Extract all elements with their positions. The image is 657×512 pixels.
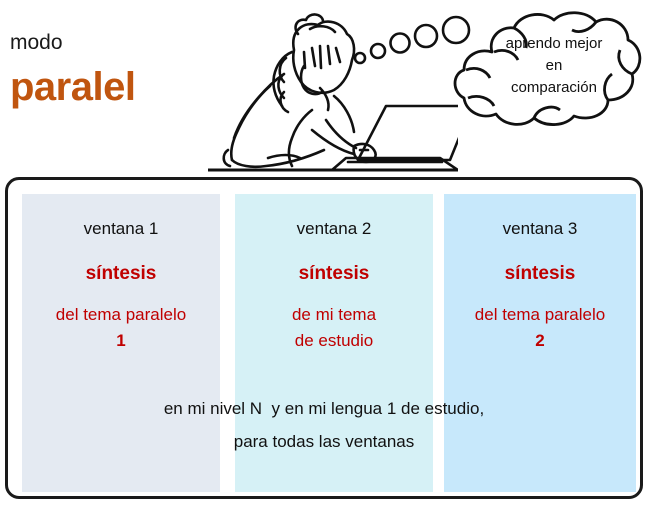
window-card-2-detail-line-1: de mi tema <box>235 302 433 328</box>
window-card-3[interactable]: ventana 3 síntesis del tema paralelo 2 <box>444 194 636 492</box>
window-card-3-detail-line-2: 2 <box>444 328 636 354</box>
title-mode-label: modo <box>10 30 230 56</box>
window-card-1-title: ventana 1 <box>22 218 220 240</box>
window-card-2-detail: de mi tema de estudio <box>235 302 433 354</box>
window-card-1-detail-line-2: 1 <box>22 328 220 354</box>
window-card-1[interactable]: ventana 1 síntesis del tema paralelo 1 <box>22 194 220 492</box>
cloud-text-line-2: en <box>470 55 638 77</box>
window-card-2-title: ventana 2 <box>235 218 433 240</box>
window-card-3-content: ventana 3 síntesis del tema paralelo 2 <box>444 194 636 354</box>
window-card-3-title: ventana 3 <box>444 218 636 240</box>
window-card-1-detail-line-1: del tema paralelo <box>22 302 220 328</box>
cloud-text-line-3: comparación <box>470 77 638 99</box>
window-card-1-sintesis: síntesis <box>22 262 220 286</box>
cloud-text-line-1: aprendo mejor <box>470 33 638 55</box>
window-card-3-sintesis: síntesis <box>444 262 636 286</box>
window-card-3-detail: del tema paralelo 2 <box>444 302 636 354</box>
thought-cloud-text: aprendo mejor en comparación <box>470 33 638 99</box>
window-card-2[interactable]: ventana 2 síntesis de mi tema de estudio <box>235 194 433 492</box>
window-card-2-sintesis: síntesis <box>235 262 433 286</box>
window-card-2-detail-line-2: de estudio <box>235 328 433 354</box>
window-card-1-detail: del tema paralelo 1 <box>22 302 220 354</box>
window-card-3-detail-line-1: del tema paralelo <box>444 302 636 328</box>
window-card-2-content: ventana 2 síntesis de mi tema de estudio <box>235 194 433 354</box>
window-card-1-content: ventana 1 síntesis del tema paralelo 1 <box>22 194 220 354</box>
title-mode-name: paralel <box>10 62 230 112</box>
page-title: modo paralel <box>10 30 230 112</box>
